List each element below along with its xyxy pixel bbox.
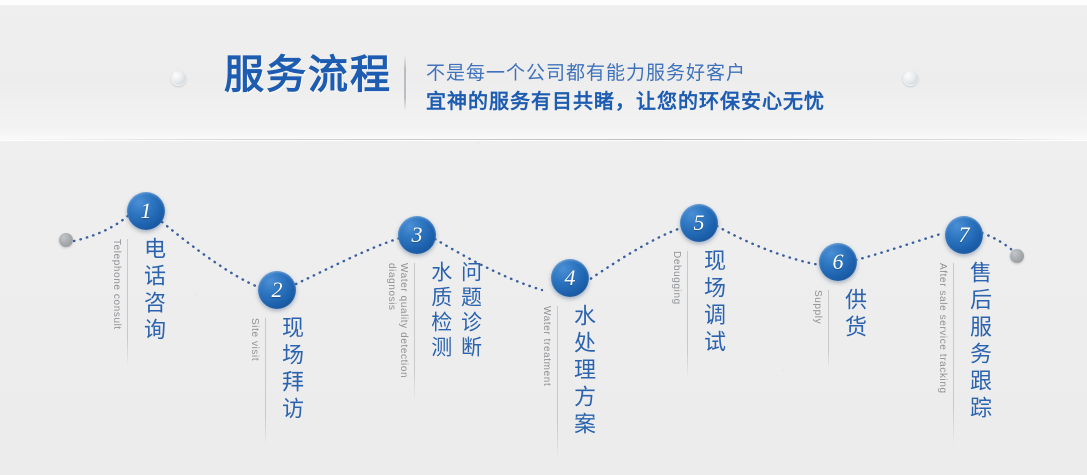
page-title: 服务流程 (224, 52, 392, 98)
process-step-3-labels: 问题诊断 水质检测 Water quality detection diagno… (385, 261, 482, 401)
step-number-2: 2 (272, 279, 283, 302)
step-number-badge-7[interactable]: 7 (945, 216, 983, 254)
step-label-cn-1: 电话咨询 (140, 237, 166, 345)
step-number-3: 3 (412, 224, 423, 247)
label-divider-1 (127, 239, 128, 367)
step-label-cn-7: 售后服务跟踪 (966, 261, 992, 423)
process-step-7-labels: 售后服务跟踪 After sale service tracking (936, 261, 992, 446)
step-label-en-7: After sale service tracking (936, 261, 948, 394)
end-dot (1010, 249, 1024, 263)
step-number-4: 4 (565, 267, 576, 290)
step-number-badge-6[interactable]: 6 (819, 243, 857, 281)
label-divider-2 (265, 318, 266, 446)
step-label-en-4: Water treatment (540, 304, 552, 386)
subtitle-line-1: 不是每一个公司都有能力服务好客户 (426, 60, 946, 87)
label-divider-6 (828, 290, 829, 368)
step-label-en-5: Debugging (670, 249, 682, 305)
process-step-5-labels: 现场调试 Debugging (670, 249, 726, 379)
label-divider-7 (953, 263, 954, 446)
step-label-en-2: Site visit (248, 316, 260, 361)
label-divider-5 (687, 251, 688, 379)
label-divider-4 (557, 306, 558, 459)
step-number-badge-5[interactable]: 5 (680, 204, 718, 242)
step-number-badge-3[interactable]: 3 (398, 216, 436, 254)
header-banner: 服务流程 不是每一个公司都有能力服务好客户 宜神的服务有目共睹，让您的环保安心无… (0, 5, 1087, 140)
step-number-6: 6 (833, 251, 844, 274)
start-dot (59, 233, 73, 247)
title-divider (404, 55, 406, 111)
step-number-7: 7 (959, 224, 970, 247)
step-number-1: 1 (141, 200, 152, 223)
process-step-4-labels: 水处理方案 Water treatment (540, 304, 596, 459)
step-label-en-1: Telephone consult (110, 237, 122, 330)
step-label-cn-6: 供货 (841, 288, 867, 342)
process-flow: 1 电话咨询 Telephone consult 2 现场拜访 Site vis… (0, 140, 1087, 475)
step-label-en-6: Supply (811, 288, 823, 324)
process-step-6-labels: 供货 Supply (811, 288, 867, 368)
rivet-dot-left (171, 71, 186, 86)
process-step-1-labels: 电话咨询 Telephone consult (110, 237, 166, 367)
service-process-banner: 服务流程 不是每一个公司都有能力服务好客户 宜神的服务有目共睹，让您的环保安心无… (0, 0, 1087, 475)
label-divider-3 (414, 263, 415, 401)
step-number-5: 5 (694, 212, 705, 235)
step-number-badge-2[interactable]: 2 (258, 271, 296, 309)
step-label-cn-2: 现场拜访 (278, 316, 304, 424)
subtitle-line-2: 宜神的服务有目共睹，让您的环保安心无忧 (426, 87, 946, 117)
step-number-badge-1[interactable]: 1 (127, 192, 165, 230)
step-label-en-3: Water quality detection diagnosis (385, 261, 409, 378)
process-step-2-labels: 现场拜访 Site visit (248, 316, 304, 446)
step-label-cn-5: 现场调试 (700, 249, 726, 357)
step-label-cn-4: 水处理方案 (570, 304, 596, 439)
step-label-cn-3-b: 问题诊断 (457, 261, 482, 361)
step-number-badge-4[interactable]: 4 (551, 259, 589, 297)
subtitle-group: 不是每一个公司都有能力服务好客户 宜神的服务有目共睹，让您的环保安心无忧 (426, 60, 946, 117)
step-label-cn-3-a: 水质检测 (427, 261, 452, 361)
